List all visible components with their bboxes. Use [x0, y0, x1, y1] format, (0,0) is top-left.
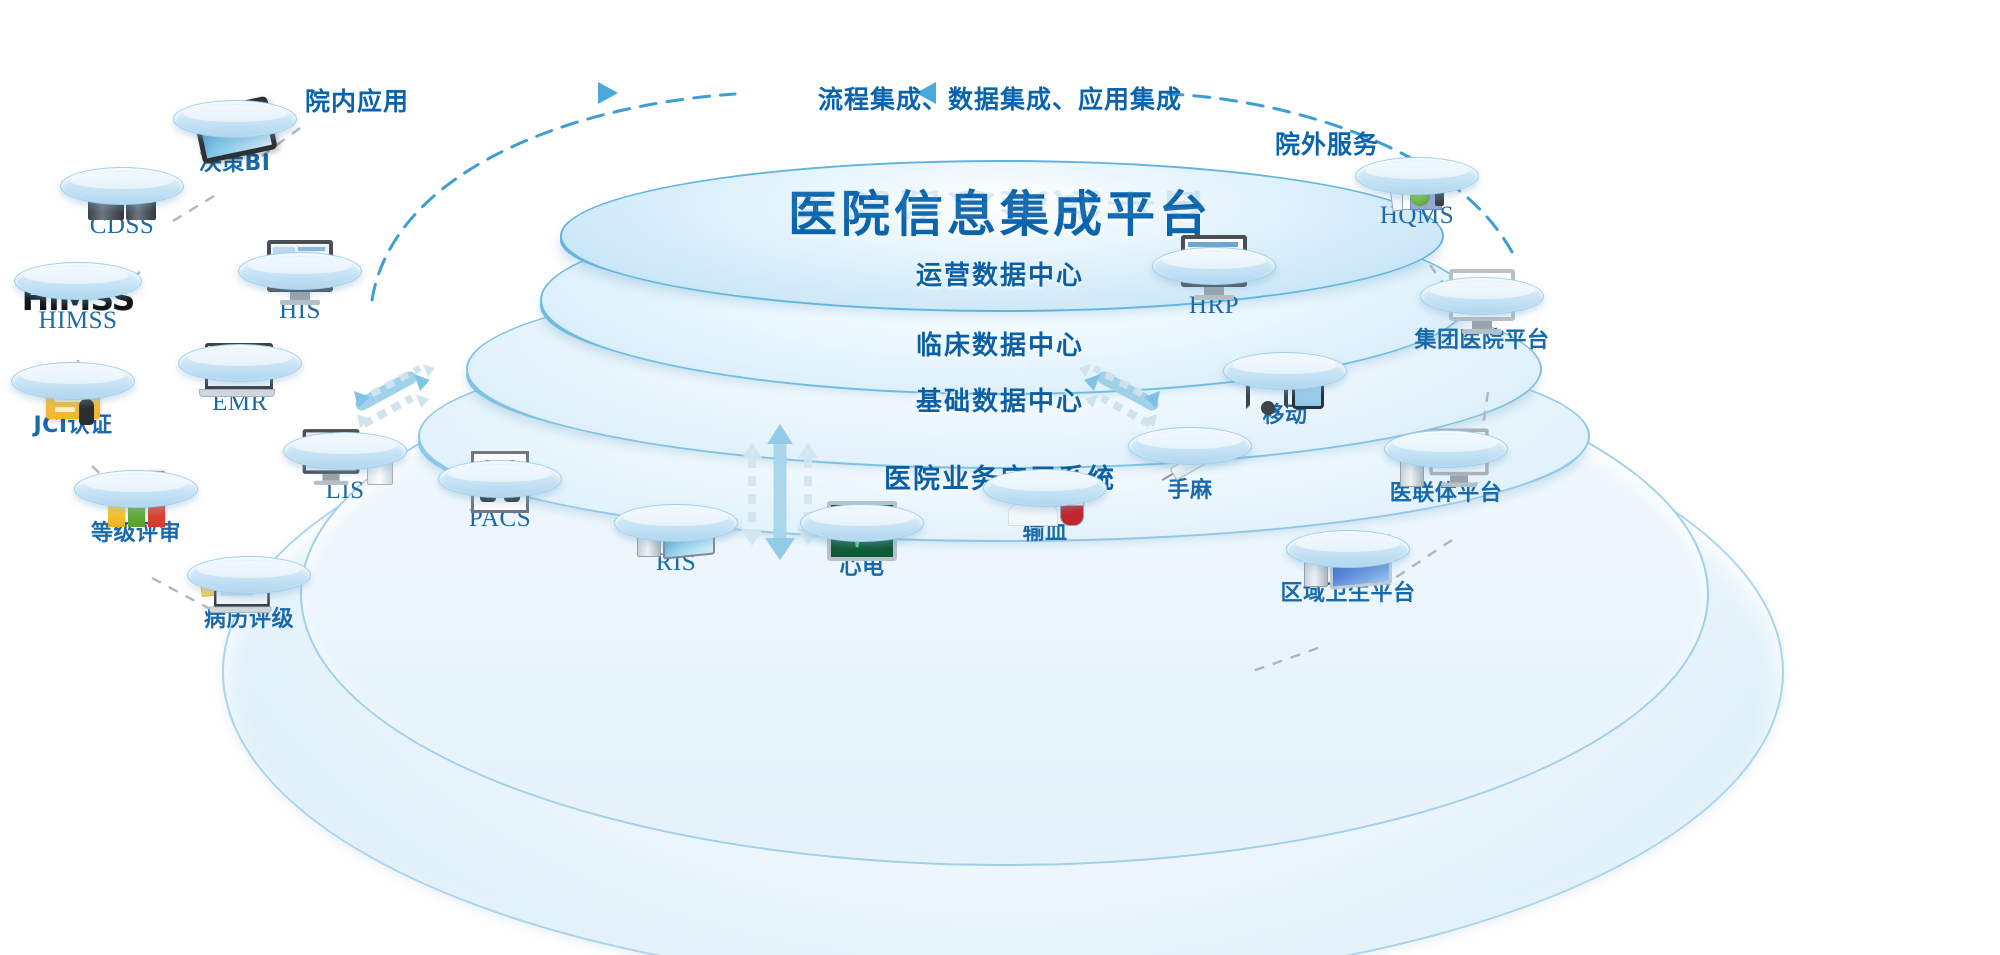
pedestal — [800, 504, 924, 542]
pedestal — [1286, 530, 1410, 568]
pedestal — [238, 252, 362, 290]
pedestal — [14, 262, 142, 300]
node-his[interactable]: HIS — [225, 252, 375, 325]
pedestal — [74, 470, 198, 508]
node-emr[interactable]: EMR — [165, 344, 315, 417]
node-jci-certification[interactable]: JCI认证 — [0, 362, 148, 439]
node-medical-alliance-platform[interactable]: 医联体平台 — [1371, 430, 1521, 507]
pedestal — [614, 504, 738, 542]
pedestal — [438, 460, 562, 498]
diagram-canvas: 流程集成、数据集成、应用集成 院内应用 院外服务 医院信息集成平台 医院信息集成… — [0, 0, 2000, 955]
node-himss[interactable]: HiMSS HIMSS — [3, 262, 153, 335]
heading-internal-applications: 院内应用 — [305, 82, 409, 118]
node-ris[interactable]: RIS — [601, 504, 751, 577]
node-mobile[interactable]: 移动 — [1210, 352, 1360, 429]
node-pacs[interactable]: PACS — [425, 460, 575, 533]
node-hrp[interactable]: HRP — [1139, 247, 1289, 320]
pedestal — [1384, 430, 1508, 468]
pedestal — [1152, 247, 1276, 285]
node-ecg[interactable]: 心电 — [787, 504, 937, 581]
page-title-reflection: 医院信息集成平台 — [0, 184, 2000, 228]
node-group-hospital-platform[interactable]: 集团医院平台 — [1407, 277, 1557, 354]
node-regional-health-platform[interactable]: 区域卫生平台 — [1273, 530, 1423, 607]
node-hqms[interactable]: HQMS — [1342, 157, 1492, 230]
pedestal — [983, 469, 1107, 507]
pedestal — [1420, 277, 1544, 315]
pedestal — [11, 362, 135, 400]
pedestal — [187, 556, 311, 594]
pedestal — [1223, 352, 1347, 390]
node-cdss[interactable]: CDSS — [47, 167, 197, 240]
pedestal — [1355, 157, 1479, 195]
node-lis[interactable]: LIS — [270, 432, 420, 505]
pedestal — [1128, 427, 1252, 465]
node-anesthesia[interactable]: 手麻 — [1115, 427, 1265, 504]
pedestal — [173, 100, 297, 138]
pedestal — [178, 344, 302, 382]
pedestal — [60, 167, 184, 205]
pedestal — [283, 432, 407, 470]
node-blood-transfusion[interactable]: 输血 — [970, 469, 1120, 546]
node-medical-record-rating[interactable]: 病历评级 — [174, 556, 324, 633]
node-grading-review[interactable]: 等级评审 — [61, 470, 211, 547]
